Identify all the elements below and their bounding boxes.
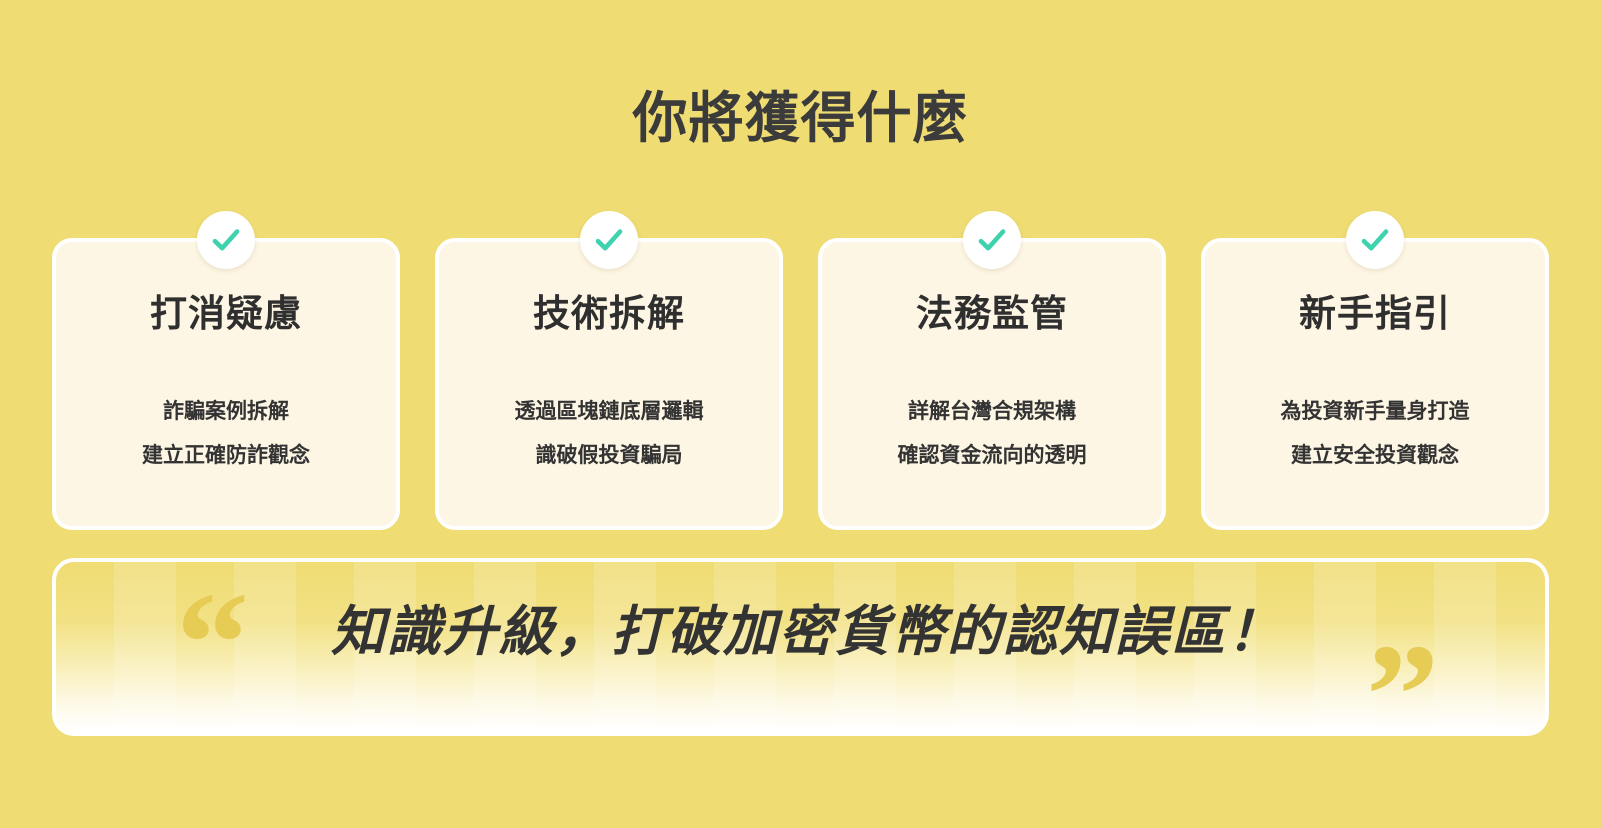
benefit-card-line: 識破假投資騙局: [439, 434, 779, 478]
benefit-card: 法務監管 詳解台灣合規架構 確認資金流向的透明: [818, 238, 1166, 530]
benefit-card-line: 詐騙案例拆解: [56, 390, 396, 434]
benefit-card-title: 打消疑慮: [56, 291, 396, 337]
benefit-card-title: 技術拆解: [439, 291, 779, 337]
benefit-card-line: 透過區塊鏈底層邏輯: [439, 390, 779, 434]
benefit-card-body: 為投資新手量身打造 建立安全投資觀念: [1205, 390, 1545, 478]
benefit-card-body: 詐騙案例拆解 建立正確防詐觀念: [56, 390, 396, 478]
benefit-card-line: 建立安全投資觀念: [1205, 434, 1545, 478]
quote-text: 知識升級，打破加密貨幣的認知誤區！: [242, 596, 1372, 668]
promo-section: 你將獲得什麼 打消疑慮 詐騙案例拆解 建立正確防詐觀念 技術拆解: [0, 0, 1601, 828]
benefit-card-title: 法務監管: [822, 291, 1162, 337]
page-title: 你將獲得什麼: [0, 85, 1601, 151]
check-icon: [197, 211, 255, 269]
benefit-card-line: 為投資新手量身打造: [1205, 390, 1545, 434]
check-icon: [963, 211, 1021, 269]
benefit-card: 技術拆解 透過區塊鏈底層邏輯 識破假投資騙局: [435, 238, 783, 530]
benefit-card-row: 打消疑慮 詐騙案例拆解 建立正確防詐觀念 技術拆解 透過區塊鏈底層邏輯 識破假投…: [52, 238, 1549, 530]
benefit-card-line: 確認資金流向的透明: [822, 434, 1162, 478]
benefit-card: 新手指引 為投資新手量身打造 建立安全投資觀念: [1201, 238, 1549, 530]
benefit-card-body: 透過區塊鏈底層邏輯 識破假投資騙局: [439, 390, 779, 478]
quote-row: “ 知識升級，打破加密貨幣的認知誤區！ ”: [56, 562, 1545, 736]
benefit-card: 打消疑慮 詐騙案例拆解 建立正確防詐觀念: [52, 238, 400, 530]
check-icon: [580, 211, 638, 269]
quote-close-icon: ”: [1366, 622, 1439, 736]
benefit-card-line: 建立正確防詐觀念: [56, 434, 396, 478]
benefit-card-title: 新手指引: [1205, 291, 1545, 337]
quote-banner: “ 知識升級，打破加密貨幣的認知誤區！ ”: [52, 558, 1549, 736]
benefit-card-body: 詳解台灣合規架構 確認資金流向的透明: [822, 390, 1162, 478]
check-icon: [1346, 211, 1404, 269]
quote-open-icon: “: [176, 570, 249, 716]
benefit-card-line: 詳解台灣合規架構: [822, 390, 1162, 434]
